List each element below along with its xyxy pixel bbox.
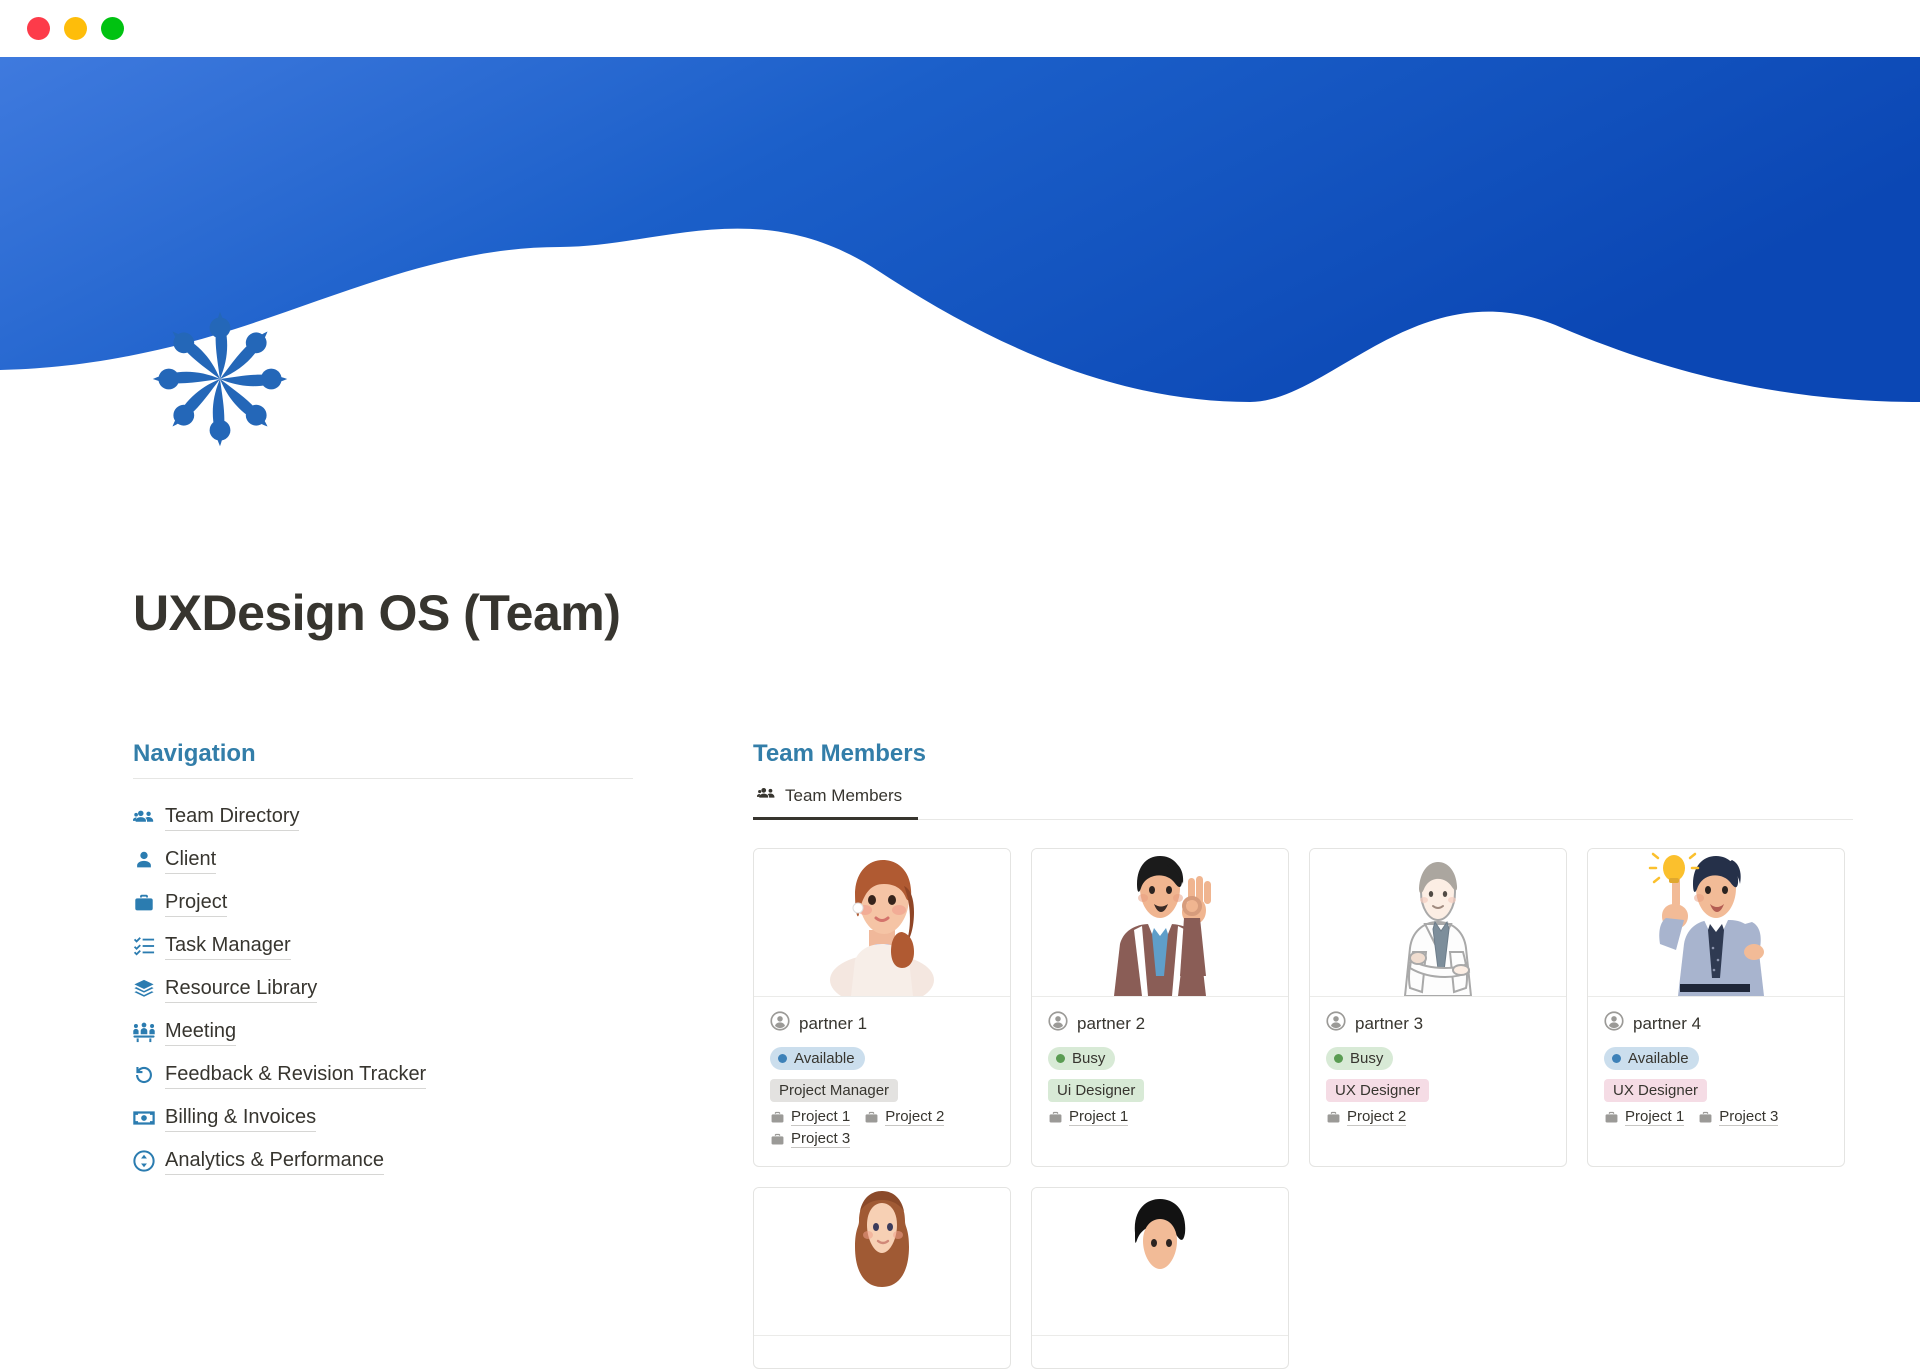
card-body: partner 4 Available UX Designer Project … [1588,997,1844,1144]
sidebar-item-client[interactable]: Client [133,838,693,881]
project-label: Project 3 [791,1130,850,1148]
sidebar-item-meeting[interactable]: Meeting [133,1010,693,1053]
sidebar-item-label: Client [165,846,216,874]
member-card[interactable]: partner 2 Busy Ui Designer Project 1 [1031,848,1289,1167]
project-link[interactable]: Project 3 [770,1130,850,1148]
person-icon [1326,1011,1346,1036]
sidebar-item-project[interactable]: Project [133,881,693,924]
person-icon [1048,1011,1068,1036]
avatar [1588,849,1844,997]
project-label: Project 1 [791,1108,850,1126]
history-icon [133,1064,155,1086]
card-body [1032,1336,1288,1368]
checklist-icon [133,935,155,957]
project-link[interactable]: Project 1 [770,1108,850,1126]
member-name: partner 1 [799,1014,867,1034]
maximize-button[interactable] [101,17,124,40]
status-badge: Busy [1326,1047,1393,1070]
member-name-row: partner 3 [1326,1011,1550,1036]
project-link[interactable]: Project 2 [864,1108,944,1126]
team-pinwheel-logo [140,299,300,459]
sidebar-item-label: Project [165,889,227,917]
sidebar-item-billing-invoices[interactable]: Billing & Invoices [133,1096,693,1139]
layers-icon [133,978,155,1000]
card-body: partner 1 Available Project Manager Proj… [754,997,1010,1166]
person-icon [133,849,155,871]
project-label: Project 1 [1069,1108,1128,1126]
status-label: Available [1628,1050,1689,1067]
sidebar-item-label: Team Directory [165,803,299,831]
page-content: UXDesign OS (Team) Navigation Team Direc… [0,57,1920,1200]
status-label: Busy [1350,1050,1383,1067]
member-card[interactable] [753,1187,1011,1369]
group-icon [133,806,155,828]
status-badge: Available [770,1047,865,1070]
member-name: partner 4 [1633,1014,1701,1034]
project-links: Project 1 Project 2 Project 3 [770,1108,994,1148]
navigation-list: Team Directory Client Project [133,795,693,1182]
project-label: Project 3 [1719,1108,1778,1126]
project-link[interactable]: Project 3 [1698,1108,1778,1126]
role-chip: UX Designer [1326,1079,1429,1102]
project-links: Project 1 [1048,1108,1272,1126]
member-name-row: partner 4 [1604,1011,1828,1036]
navigation-divider [133,778,633,779]
analytics-icon [133,1150,155,1172]
member-card[interactable] [1031,1187,1289,1369]
sidebar-item-analytics-performance[interactable]: Analytics & Performance [133,1139,693,1182]
sidebar-item-team-directory[interactable]: Team Directory [133,795,693,838]
status-badge: Available [1604,1047,1699,1070]
project-label: Project 2 [1347,1108,1406,1126]
team-members-heading: Team Members [753,740,1853,778]
member-card[interactable]: partner 4 Available UX Designer Project … [1587,848,1845,1167]
project-label: Project 2 [885,1108,944,1126]
team-member-cards: partner 1 Available Project Manager Proj… [753,848,1851,1369]
briefcase-icon [133,892,155,914]
navigation-heading: Navigation [133,740,693,778]
sidebar-item-label: Resource Library [165,975,317,1003]
person-icon [770,1011,790,1036]
sidebar-item-feedback-revision-tracker[interactable]: Feedback & Revision Tracker [133,1053,693,1096]
window-controls [27,17,124,40]
project-links: Project 2 [1326,1108,1550,1126]
avatar [1310,849,1566,997]
team-members-column: Team Members Team Members [753,740,1853,1369]
role-chip: Project Manager [770,1079,898,1102]
project-link[interactable]: Project 2 [1326,1108,1406,1126]
card-body [754,1336,1010,1368]
navigation-column: Navigation Team Directory Client [133,740,693,1182]
member-name-row: partner 2 [1048,1011,1272,1036]
card-body: partner 2 Busy Ui Designer Project 1 [1032,997,1288,1144]
project-link[interactable]: Project 1 [1604,1108,1684,1126]
sidebar-item-label: Feedback & Revision Tracker [165,1061,426,1089]
member-name: partner 3 [1355,1014,1423,1034]
meeting-icon [133,1021,155,1043]
sidebar-item-label: Meeting [165,1018,236,1046]
role-chip: UX Designer [1604,1079,1707,1102]
status-label: Available [794,1050,855,1067]
window-titlebar [0,0,1920,57]
tab-label: Team Members [785,786,902,806]
sidebar-item-label: Analytics & Performance [165,1147,384,1175]
project-label: Project 1 [1625,1108,1684,1126]
sidebar-item-label: Task Manager [165,932,291,960]
project-link[interactable]: Project 1 [1048,1108,1128,1126]
sidebar-item-task-manager[interactable]: Task Manager [133,924,693,967]
tab-team-members[interactable]: Team Members [753,780,918,819]
sidebar-item-label: Billing & Invoices [165,1104,316,1132]
group-icon [757,784,776,808]
avatar [1032,849,1288,997]
avatar [1032,1188,1288,1336]
member-card[interactable]: partner 1 Available Project Manager Proj… [753,848,1011,1167]
invoice-icon [133,1107,155,1129]
status-label: Busy [1072,1050,1105,1067]
status-badge: Busy [1048,1047,1115,1070]
team-tabs: Team Members [753,780,1853,820]
project-links: Project 1 Project 3 [1604,1108,1828,1126]
member-name: partner 2 [1077,1014,1145,1034]
content-columns: Navigation Team Directory Client [0,740,1920,1369]
page-title: UXDesign OS (Team) [133,584,620,642]
sidebar-item-resource-library[interactable]: Resource Library [133,967,693,1010]
person-icon [1604,1011,1624,1036]
minimize-button[interactable] [64,17,87,40]
avatar [754,849,1010,997]
member-card[interactable]: partner 3 Busy UX Designer Project 2 [1309,848,1567,1167]
close-button[interactable] [27,17,50,40]
avatar [754,1188,1010,1336]
member-name-row: partner 1 [770,1011,994,1036]
role-chip: Ui Designer [1048,1079,1144,1102]
card-body: partner 3 Busy UX Designer Project 2 [1310,997,1566,1144]
